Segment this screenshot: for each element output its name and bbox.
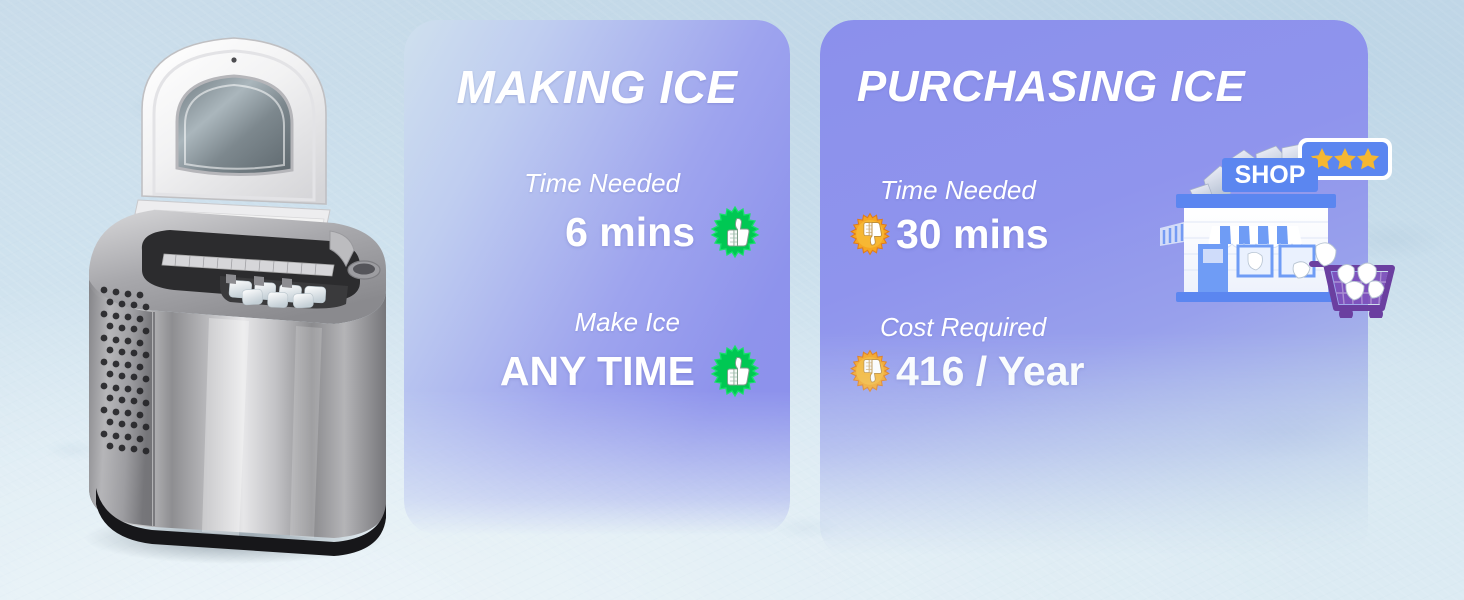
row-purchasing-ice-cost: Cost Required 416 / Year <box>848 314 1268 393</box>
row-label: Time Needed <box>404 170 680 196</box>
row-making-ice-time: Time Needed 6 mins <box>404 170 790 259</box>
panel-left-title: MAKING ICE <box>404 60 790 114</box>
lid-sensor-dot <box>231 57 236 62</box>
row-value: ANY TIME <box>500 351 695 392</box>
row-making-ice-availability: Make Ice ANY TIME <box>404 309 790 398</box>
panel-right-title: PURCHASING ICE <box>820 62 1282 112</box>
shop-base <box>1176 292 1336 302</box>
thumbs-up-icon <box>708 344 762 398</box>
panel-making-ice: MAKING ICE Time Needed 6 mins Make Ice A… <box>404 20 790 535</box>
side-awning <box>1160 222 1184 246</box>
infographic-canvas: MAKING ICE Time Needed 6 mins Make Ice A… <box>0 0 1464 600</box>
thumbs-down-icon <box>848 349 892 393</box>
thumbs-down-icon <box>848 212 892 256</box>
thumbs-up-icon <box>708 205 762 259</box>
shop-sign: SHOP <box>1222 158 1318 192</box>
row-label: Make Ice <box>404 309 680 335</box>
shop-illustration: SHOP <box>1160 118 1406 318</box>
ice-maker-product-image <box>34 18 424 578</box>
shop-sign-text: SHOP <box>1235 161 1306 189</box>
ice-maker-lid <box>135 38 330 234</box>
row-value: 6 mins <box>565 212 695 253</box>
storefront <box>1160 194 1336 302</box>
row-value: 30 mins <box>896 214 1049 255</box>
row-value: 416 / Year <box>896 351 1084 392</box>
